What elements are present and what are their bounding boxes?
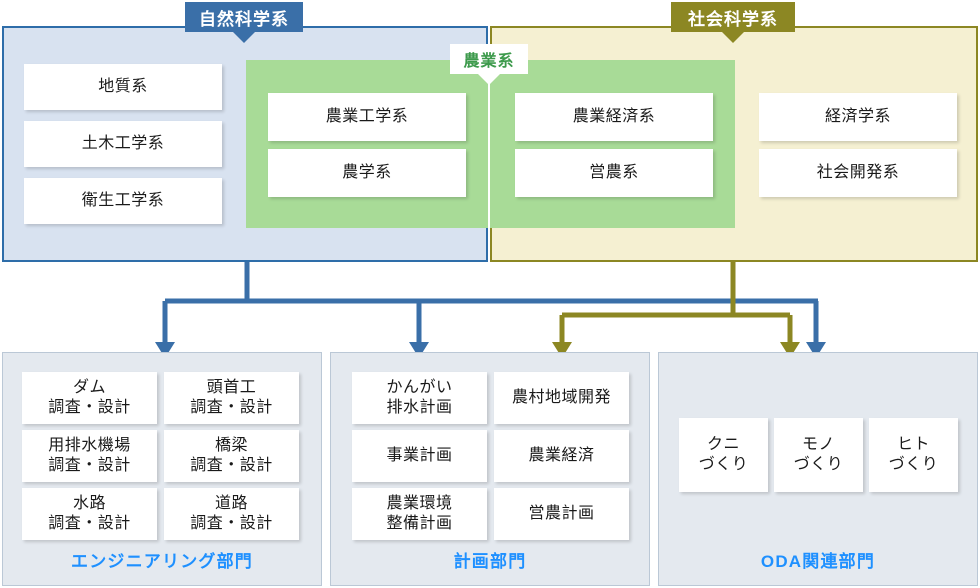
ribbon-agriculture: 農業系 (450, 44, 528, 74)
ribbon-social-science: 社会科学系 (671, 2, 795, 32)
agriculture-band-right (490, 60, 735, 228)
item-line-1: ダム (73, 378, 106, 398)
department-item[interactable]: 農業環境 整備計画 (352, 488, 487, 540)
item-line-2: 調査・設計 (190, 456, 273, 476)
item-line-1: 農業経済 (528, 446, 594, 466)
field-card-chishitsu[interactable]: 地質系 (24, 64, 222, 110)
item-line-1: 事業計画 (386, 446, 452, 466)
department-item[interactable]: 農業経済 (494, 430, 629, 482)
field-card-shakai-kaihatsu[interactable]: 社会開発系 (759, 149, 957, 197)
department-title-planning: 計画部門 (331, 547, 649, 572)
field-card-label: 地質系 (98, 77, 148, 97)
item-line-2: づくり (889, 455, 939, 475)
ribbon-label: 自然科学系 (199, 5, 289, 30)
item-line-1: 用排水機場 (48, 436, 131, 456)
ribbon-natural-science: 自然科学系 (185, 2, 303, 32)
department-title-oda: ODA関連部門 (659, 547, 977, 572)
item-line-1: 農業環境 (386, 494, 452, 514)
org-chart-diagram: 地質系 土木工学系 衛生工学系 農業工学系 農学系 農業経済系 営農系 経済学系… (0, 0, 980, 588)
item-line-1: モノ (802, 435, 835, 455)
agriculture-band-left (246, 60, 488, 228)
department-item[interactable]: ダム 調査・設計 (22, 372, 157, 424)
field-card-label: 経済学系 (825, 107, 891, 127)
item-line-1: ヒト (897, 435, 930, 455)
item-line-1: 頭首工 (207, 378, 257, 398)
department-item[interactable]: 道路 調査・設計 (164, 488, 299, 540)
item-line-2: づくり (794, 455, 844, 475)
field-card-nogyo-kogaku[interactable]: 農業工学系 (268, 93, 466, 141)
item-line-2: 調査・設計 (48, 398, 131, 418)
department-item[interactable]: 橋梁 調査・設計 (164, 430, 299, 482)
item-line-2: 調査・設計 (190, 514, 273, 534)
item-line-1: 道路 (215, 494, 248, 514)
department-item[interactable]: 用排水機場 調査・設計 (22, 430, 157, 482)
field-card-keizai-gaku[interactable]: 経済学系 (759, 93, 957, 141)
item-line-1: 水路 (73, 494, 106, 514)
item-line-1: 営農計画 (528, 504, 594, 524)
field-card-label: 衛生工学系 (82, 191, 165, 211)
item-line-2: 調査・設計 (48, 456, 131, 476)
department-item[interactable]: クニ づくり (679, 418, 768, 492)
ribbon-label: 社会科学系 (688, 5, 778, 30)
department-item[interactable]: モノ づくり (774, 418, 863, 492)
item-line-2: 調査・設計 (190, 398, 273, 418)
department-item[interactable]: 事業計画 (352, 430, 487, 482)
ribbon-notch-icon (722, 32, 744, 43)
field-card-doboku[interactable]: 土木工学系 (24, 121, 222, 167)
field-card-label: 土木工学系 (82, 134, 165, 154)
field-card-label: 社会開発系 (817, 163, 900, 183)
field-card-eino[interactable]: 営農系 (515, 149, 713, 197)
item-line-2: 整備計画 (386, 514, 452, 534)
ribbon-notch-icon (233, 32, 255, 43)
department-item[interactable]: 営農計画 (494, 488, 629, 540)
department-item[interactable]: 頭首工 調査・設計 (164, 372, 299, 424)
department-title-engineering: エンジニアリング部門 (3, 547, 321, 572)
department-item[interactable]: 農村地域開発 (494, 372, 629, 424)
department-item[interactable]: ヒト づくり (869, 418, 958, 492)
item-line-2: 調査・設計 (48, 514, 131, 534)
field-card-label: 農業工学系 (326, 107, 409, 127)
field-card-label: 営農系 (589, 163, 639, 183)
item-line-1: クニ (707, 435, 740, 455)
field-card-nogaku[interactable]: 農学系 (268, 149, 466, 197)
department-item[interactable]: かんがい 排水計画 (352, 372, 487, 424)
item-line-1: 農村地域開発 (512, 388, 611, 408)
item-line-1: かんがい (386, 378, 452, 398)
item-line-2: づくり (699, 455, 749, 475)
ribbon-label: 農業系 (463, 47, 514, 71)
item-line-1: 橋梁 (215, 436, 248, 456)
field-card-label: 農学系 (342, 163, 392, 183)
field-card-eisei[interactable]: 衛生工学系 (24, 178, 222, 224)
department-item[interactable]: 水路 調査・設計 (22, 488, 157, 540)
field-card-nogyo-keizai[interactable]: 農業経済系 (515, 93, 713, 141)
ribbon-notch-icon (478, 74, 500, 85)
item-line-2: 排水計画 (386, 398, 452, 418)
field-card-label: 農業経済系 (573, 107, 656, 127)
